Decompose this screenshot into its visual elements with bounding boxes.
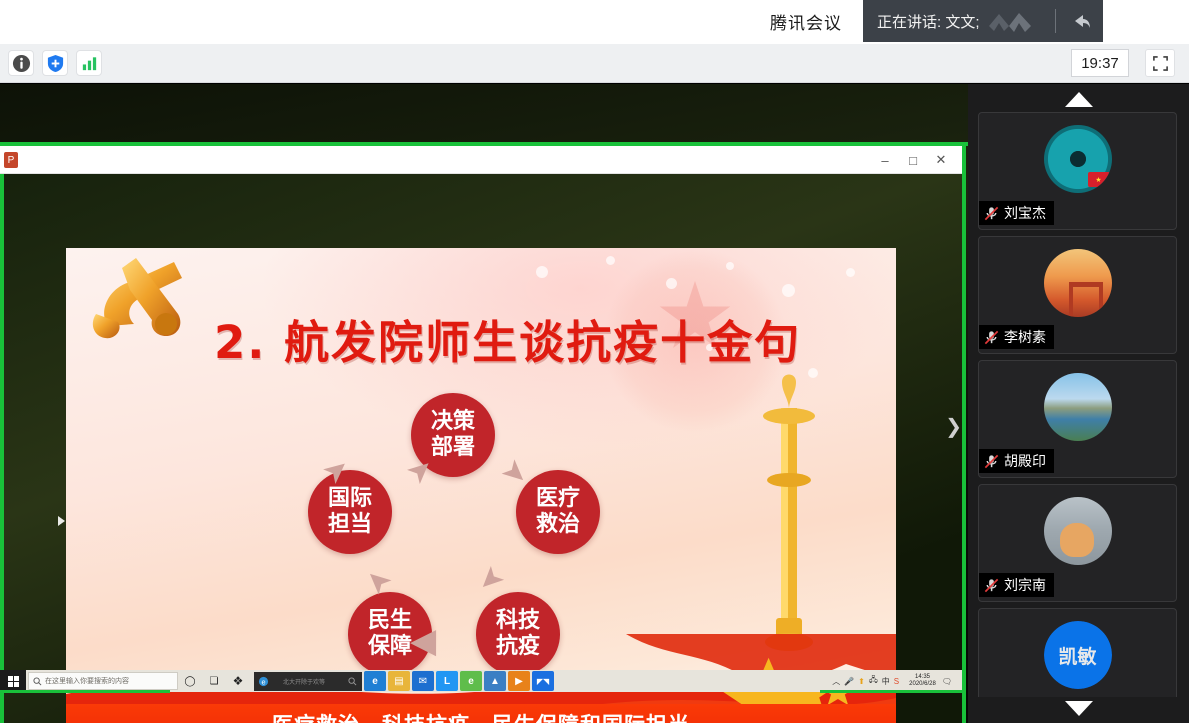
node-line-1: 国际 — [328, 486, 372, 512]
participant-name-bar: 李树素 — [979, 325, 1054, 349]
participant-tile-2[interactable]: 胡殿印 — [978, 360, 1177, 478]
system-clock[interactable]: 14:35 2020/6/28 — [909, 674, 936, 689]
search-icon — [33, 677, 42, 686]
tencent-meeting-logo-icon — [983, 8, 1043, 34]
taskbar-search-placeholder: 在这里输入你要搜索的内容 — [45, 676, 129, 686]
ie-search-box[interactable]: e 北大开除于欢等 — [254, 672, 362, 691]
scroll-down-arrow-icon[interactable] — [968, 697, 1189, 719]
window-close-button[interactable]: ✕ — [930, 150, 952, 170]
edge-icon[interactable]: e — [364, 671, 386, 691]
chevron-up-icon[interactable]: ︿ — [832, 676, 840, 687]
avatar — [1044, 373, 1112, 441]
participant-name: 刘宗南 — [1004, 575, 1046, 595]
search-icon — [348, 677, 357, 686]
network-icon[interactable]: 🖧 — [869, 674, 878, 688]
bokeh-dot — [726, 262, 734, 270]
cortana-circle-icon[interactable]: ◯ — [178, 670, 202, 692]
avatar — [1044, 497, 1112, 565]
node-line-1: 决策 — [431, 409, 475, 435]
scroll-up-arrow-icon[interactable] — [968, 88, 1189, 110]
participant-name-bar: 刘宝杰 — [979, 201, 1054, 225]
svg-text:e: e — [261, 677, 265, 686]
taskbar-search-input[interactable]: 在这里输入你要搜索的内容 — [28, 672, 178, 690]
bokeh-dot — [536, 266, 548, 278]
tray-time: 14:35 — [909, 674, 936, 682]
avatar-initials: 凯敏 — [1044, 621, 1112, 689]
system-tray: ︿ 🎤 ⬆ 🖧 中 S 14:35 2020/6/28 🗨 — [832, 670, 956, 692]
participant-name: 李树素 — [1004, 327, 1046, 347]
participant-name: 胡殿印 — [1004, 451, 1046, 471]
info-icon — [12, 54, 31, 73]
mic-muted-icon — [983, 205, 1000, 222]
party-emblem-icon — [78, 248, 206, 358]
mic-muted-icon — [983, 453, 1000, 470]
powerpoint-window-titlebar: P – □ ✕ — [0, 146, 962, 174]
node-line-2: 部署 — [431, 435, 475, 461]
powerpoint-icon: P — [4, 152, 18, 168]
windows-start-icon[interactable] — [0, 670, 26, 692]
tray-date: 2020/6/28 — [909, 681, 936, 689]
pill-divider — [1055, 9, 1056, 33]
participant-name-bar: 胡殿印 — [979, 449, 1054, 473]
node-line-1: 医疗 — [536, 486, 580, 512]
reply-arrow-icon[interactable] — [1068, 8, 1094, 34]
statistics-button[interactable] — [76, 50, 102, 76]
mail-icon[interactable]: ✉ — [412, 671, 434, 691]
bokeh-dot — [782, 284, 795, 297]
bokeh-dot — [666, 278, 677, 289]
task-view-icon[interactable]: ❏ — [202, 670, 226, 692]
action-center-icon[interactable]: 🗨 — [942, 677, 952, 686]
security-button[interactable] — [42, 50, 68, 76]
ime-icon[interactable]: 中 — [882, 676, 890, 687]
file-explorer-icon[interactable]: ▤ — [388, 671, 410, 691]
info-button[interactable] — [8, 50, 34, 76]
presentation-slide: 2. 航发院师生谈抗疫十金句 决策 部署 医疗 救治 科技 抗疫 民生 保障 国… — [66, 248, 896, 723]
shield-plus-icon — [46, 54, 65, 73]
app-l-icon[interactable]: L — [436, 671, 458, 691]
participant-panel: ★ 刘宝杰 李树素 — [968, 84, 1189, 723]
avatar — [1044, 249, 1112, 317]
mic-muted-icon — [983, 577, 1000, 594]
remote-taskbar: 在这里输入你要搜索的内容 ◯ ❏ ❖ e 北大开除于欢等 e ▤ ✉ L e ▲… — [0, 670, 962, 692]
mouse-cursor-icon — [58, 516, 65, 526]
slide-title: 2. 航发院师生谈抗疫十金句 — [214, 306, 801, 371]
node-line-1: 科技 — [496, 608, 540, 634]
microphone-icon[interactable]: 🎤 — [844, 677, 854, 686]
participant-name-bar: 刘宗南 — [979, 573, 1054, 597]
participant-tile-3[interactable]: 刘宗南 — [978, 484, 1177, 602]
node-line-2: 救治 — [536, 512, 580, 538]
active-speaker-pill: 正在讲话: 文文; — [863, 0, 1103, 42]
sogou-tray-icon[interactable]: S — [894, 677, 899, 686]
window-minimize-button[interactable]: – — [874, 150, 896, 170]
update-icon[interactable]: ⬆ — [858, 677, 865, 686]
media-player-icon[interactable]: ▶ — [508, 671, 530, 691]
node-line-1: 民生 — [368, 608, 412, 634]
bar-chart-icon — [80, 54, 99, 73]
top-bar: 腾讯会议 正在讲话: 文文; — [0, 0, 1189, 44]
avatar: 凯敏 — [1044, 621, 1112, 689]
bokeh-dot — [606, 256, 615, 265]
app-brand-title: 腾讯会议 — [770, 9, 842, 34]
diagram-node-medical: 医疗 救治 — [516, 470, 600, 554]
participant-tile-4[interactable]: 凯敏 郭凯敏 — [978, 608, 1177, 697]
shared-screen-area[interactable]: P – □ ✕ 2. 航发院师生谈抗疫十金句 — [0, 84, 968, 723]
bokeh-dot — [846, 268, 855, 277]
avatar: ★ — [1044, 125, 1112, 193]
ie-icon[interactable]: e — [460, 671, 482, 691]
flag-badge-icon: ★ — [1088, 172, 1110, 187]
ie-browser-icon: e — [258, 676, 269, 687]
tencent-meeting-icon[interactable]: ◤◥ — [532, 671, 554, 691]
share-border-taskbar-left — [0, 690, 170, 693]
mic-muted-icon — [983, 329, 1000, 346]
meeting-toolbar: 19:37 — [0, 44, 1189, 83]
chevron-right-icon[interactable]: ❯ — [945, 414, 962, 439]
meeting-clock: 19:37 — [1071, 49, 1129, 77]
diagram-node-international: 国际 担当 — [308, 470, 392, 554]
window-maximize-button[interactable]: □ — [902, 150, 924, 170]
photos-icon[interactable]: ▲ — [484, 671, 506, 691]
active-speaker-label: 正在讲话: 文文; — [877, 11, 980, 32]
participant-tiles: ★ 刘宝杰 李树素 — [978, 112, 1179, 697]
fullscreen-button[interactable] — [1145, 49, 1175, 77]
fullscreen-icon — [1152, 55, 1169, 72]
diagram-arrow: ➤ — [471, 559, 510, 598]
share-border-left — [0, 142, 4, 723]
participant-tile-0[interactable]: ★ 刘宝杰 — [978, 112, 1177, 230]
node-line-2: 担当 — [328, 512, 372, 538]
participant-name: 刘宝杰 — [1004, 203, 1046, 223]
sogou-icon[interactable]: ❖ — [226, 670, 250, 692]
slide-banner-text: 医疗救治、科技抗疫、民生保障和国际担当 — [272, 709, 690, 723]
share-border-taskbar-right — [820, 690, 962, 693]
ie-search-placeholder: 北大开除于欢等 — [283, 677, 325, 686]
share-border-right — [962, 142, 966, 723]
slide-bottom-banner: 医疗救治、科技抗疫、民生保障和国际担当 — [66, 704, 896, 723]
participant-tile-1[interactable]: 李树素 — [978, 236, 1177, 354]
huabiao-pillar-icon — [760, 368, 818, 668]
